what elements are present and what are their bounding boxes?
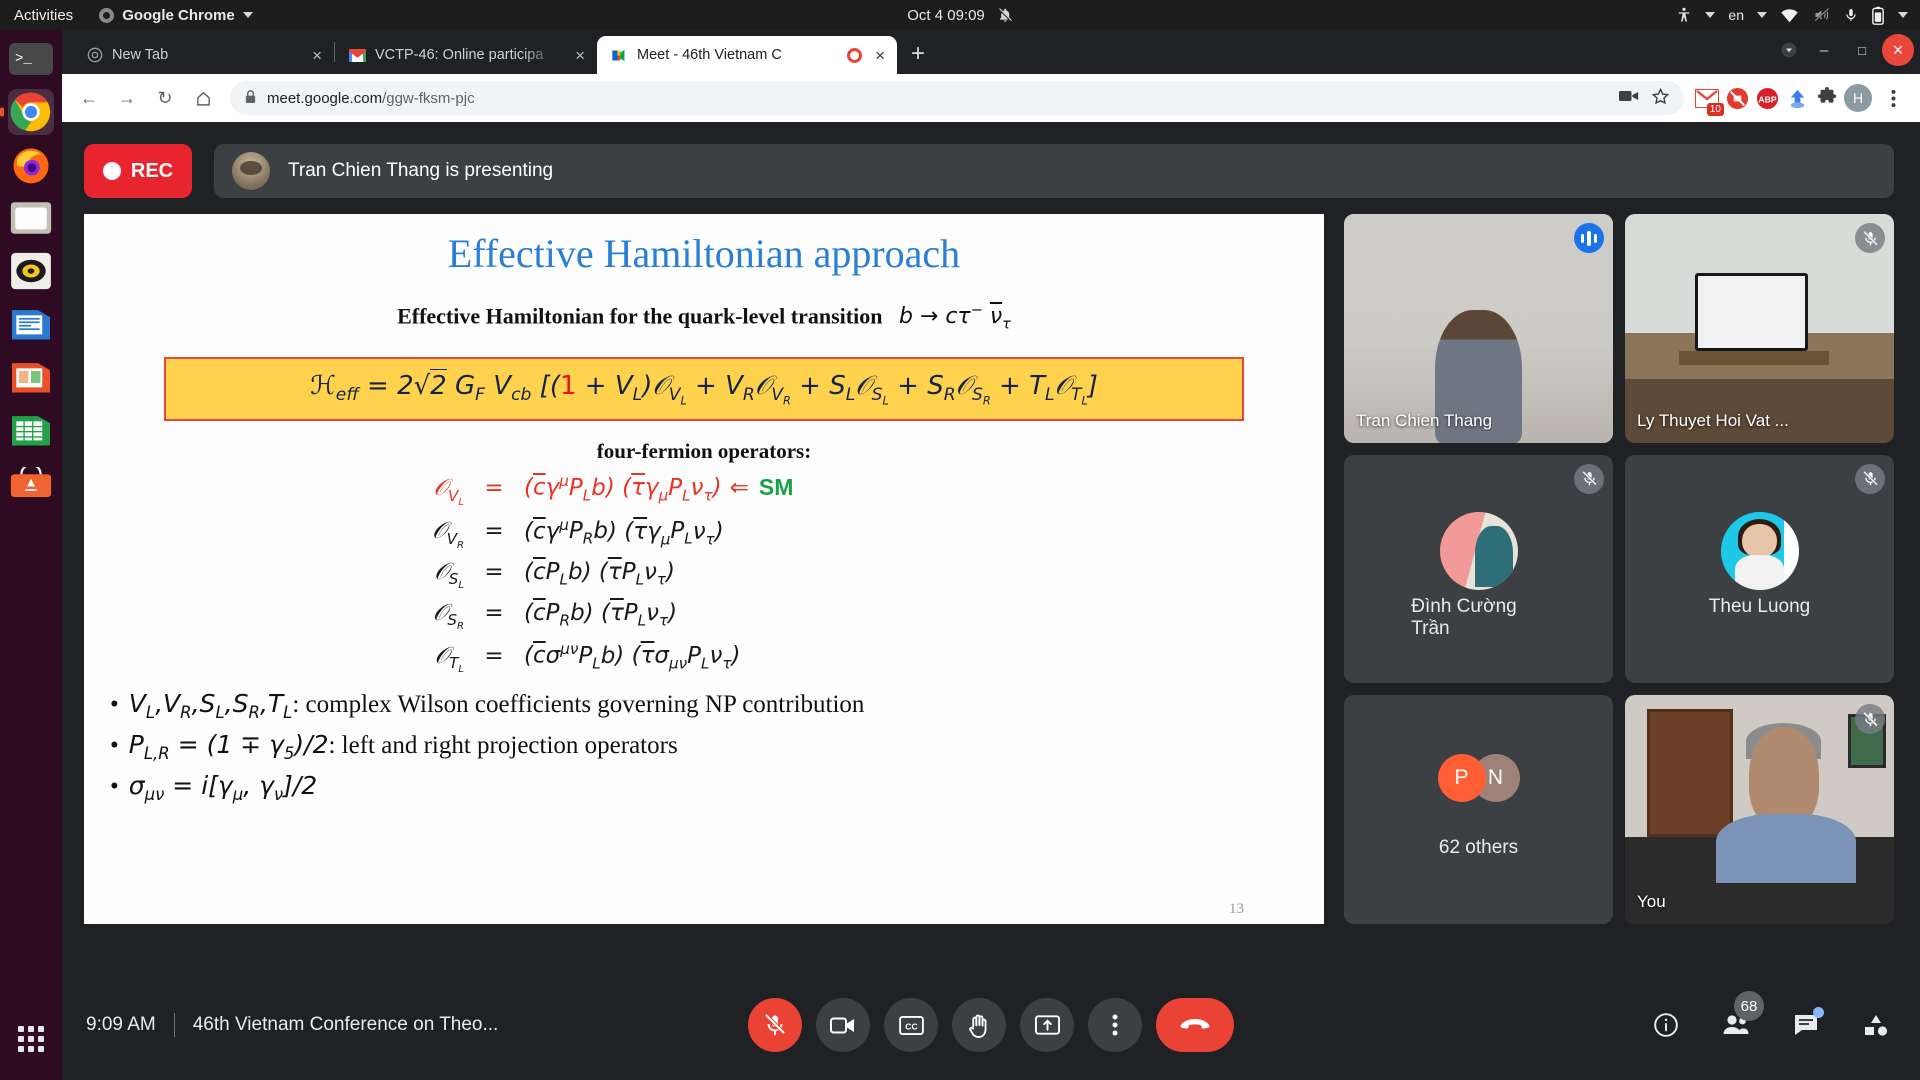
operator-lhs: 𝒪TL: [344, 643, 464, 676]
presenting-text: Tran Chien Thang is presenting: [288, 160, 553, 182]
window-minimize-button[interactable]: –: [1806, 36, 1842, 64]
participants-count-badge: 68: [1734, 991, 1764, 1021]
operator-lhs: 𝒪SL: [344, 559, 464, 592]
tab-close-icon[interactable]: ×: [871, 45, 889, 66]
hamiltonian-equation-box: ℋeff = 2√2 GF Vcb [(1 + VL)𝒪VL + VR𝒪VR +…: [164, 357, 1244, 422]
slide-page-number: 13: [1229, 901, 1244, 918]
recording-badge: REC: [84, 144, 192, 198]
calc-icon: [10, 411, 52, 449]
puzzle-extensions-icon[interactable]: [1814, 85, 1840, 111]
url-host: meet.google.com: [267, 90, 382, 107]
tab-vctp46[interactable]: VCTP-46: Online participa ×: [335, 36, 597, 74]
bullet-marker: •: [110, 768, 119, 807]
leave-call-button[interactable]: [1156, 998, 1234, 1052]
chevron-down-icon[interactable]: [1898, 12, 1908, 18]
camera-button[interactable]: [816, 998, 870, 1052]
gmail-icon: [349, 47, 366, 64]
app-menu-label: Google Chrome: [122, 7, 235, 24]
writer-icon: [10, 305, 52, 343]
operator-rhs: (cPRb) (τPLντ): [524, 600, 1064, 630]
activities-button[interactable]: Activities: [14, 7, 73, 24]
presenting-banner[interactable]: Tran Chien Thang is presenting: [214, 144, 1894, 198]
operator-rhs: (cγμPLb) (τγμPLντ)⇐SM: [524, 472, 1064, 504]
adblock-red-icon[interactable]: [1724, 85, 1750, 111]
more-options-button[interactable]: [1088, 998, 1142, 1052]
others-count-label: 62 others: [1439, 837, 1518, 859]
meeting-info-left: 9:09 AM 46th Vietnam Conference on Theo.…: [86, 1013, 498, 1037]
bullet-item: • PL,R = (1 ∓ γ5)/2: left and right proj…: [110, 726, 1324, 767]
captions-button[interactable]: CC: [884, 998, 938, 1052]
language-indicator[interactable]: en: [1728, 7, 1744, 23]
address-bar[interactable]: meet.google.com/ggw-fksm-pjc: [230, 81, 1684, 115]
wifi-icon[interactable]: [1780, 8, 1799, 23]
reload-button[interactable]: ↻: [148, 81, 182, 115]
show-applications-button[interactable]: [8, 1016, 54, 1062]
accessibility-icon[interactable]: [1676, 6, 1692, 24]
participant-tile-ly-thuyet-hoi-vat[interactable]: Ly Thuyet Hoi Vat ...: [1625, 214, 1894, 443]
browser-toolbar: ← → ↻ meet.google.com/ggw-fksm-pjc: [62, 74, 1920, 122]
mic-muted-icon: [1574, 464, 1604, 494]
operators-heading: four-fermion operators:: [84, 439, 1324, 464]
svg-text:ABP: ABP: [1758, 94, 1776, 104]
operator-equals: =: [464, 600, 524, 626]
mic-muted-icon: [1855, 464, 1885, 494]
participant-name: Tran Chien Thang: [1356, 411, 1492, 431]
bookmark-star-icon[interactable]: [1651, 87, 1670, 110]
tab-title: New Tab: [112, 47, 299, 63]
bullet-math: PL,R = (1 ∓ γ5)/2: [129, 730, 329, 759]
svg-text:CC: CC: [905, 1021, 917, 1031]
app-menu-chrome[interactable]: Google Chrome: [99, 7, 253, 24]
participant-name: Ly Thuyet Hoi Vat ...: [1637, 411, 1789, 431]
gnome-top-bar: Activities Google Chrome Oct 4 09:09 en: [0, 0, 1920, 30]
record-dot-icon: [103, 162, 121, 180]
chrome-window: New Tab × VCTP-46: Online participa ×: [62, 30, 1920, 1080]
dock-item-terminal[interactable]: >_: [8, 36, 54, 82]
mic-muted-icon: [1855, 223, 1885, 253]
participant-tiles: Tran Chien Thang Ly Thuyet Hoi Vat ...: [1344, 214, 1894, 924]
gmail-unread-badge: 10: [1707, 103, 1724, 116]
activities-button[interactable]: [1856, 1005, 1896, 1045]
sm-tag: SM: [759, 474, 794, 500]
participant-name: Đình Cường Trần: [1411, 596, 1546, 640]
participant-tile-others[interactable]: P N 62 others: [1344, 695, 1613, 924]
camera-permission-icon[interactable]: [1619, 89, 1639, 107]
back-button[interactable]: ←: [72, 81, 106, 115]
chrome-menu-button[interactable]: [1876, 81, 1910, 115]
home-button[interactable]: [186, 81, 220, 115]
files-icon: [10, 201, 52, 235]
dock-item-rhythmbox[interactable]: [8, 248, 54, 294]
microphone-off-button[interactable]: [748, 998, 802, 1052]
bullet-math: σμν = i[γμ, γν]/2: [129, 771, 317, 800]
participant-name: Theu Luong: [1709, 596, 1810, 618]
battery-icon[interactable]: [1871, 6, 1885, 25]
dock-item-libreoffice-calc[interactable]: [8, 407, 54, 453]
participant-tile-you[interactable]: You: [1625, 695, 1894, 924]
meet-top-bar: REC Tran Chien Thang is presenting: [84, 144, 1894, 198]
tab-recording-icon: [847, 48, 862, 63]
recording-label: REC: [131, 160, 173, 183]
tab-title: Meet - 46th Vietnam C: [637, 47, 838, 63]
operator-rhs: (cPLb) (τPLντ): [524, 559, 1064, 589]
forward-button[interactable]: →: [110, 81, 144, 115]
chat-unread-dot: [1813, 1007, 1824, 1018]
new-tab-button[interactable]: +: [897, 40, 939, 74]
operator-equals: =: [464, 643, 524, 669]
operator-rhs: (cσμνPLb) (τσμνPLντ): [524, 640, 1064, 672]
notifications-muted-icon: [997, 7, 1013, 23]
slide-subtitle-text: Effective Hamiltonian for the quark-leve…: [397, 303, 882, 328]
slide-subtitle: Effective Hamiltonian for the quark-leve…: [84, 303, 1324, 333]
url-path: /ggw-fksm-pjc: [382, 90, 475, 107]
operator-row: 𝒪VR = (cγμPRb) (τγμPLντ): [344, 516, 1064, 551]
volume-muted-icon[interactable]: [1812, 7, 1831, 23]
window-maximize-button[interactable]: □: [1844, 36, 1880, 64]
meet-control-bar: 9:09 AM 46th Vietnam Conference on Theo.…: [62, 970, 1920, 1080]
chrome-icon: [10, 91, 52, 133]
operator-rhs: (cγμPRb) (τγμPLντ): [524, 516, 1064, 548]
participant-video: [1625, 214, 1894, 443]
url-text: meet.google.com/ggw-fksm-pjc: [267, 90, 475, 107]
ubuntu-dock: >_: [0, 30, 62, 1080]
clock-label: Oct 4 09:09: [907, 7, 985, 24]
chevron-down-icon[interactable]: [1757, 12, 1767, 18]
tab-new-tab[interactable]: New Tab ×: [72, 36, 334, 74]
tab-close-icon[interactable]: ×: [308, 45, 326, 66]
bullet-item: • σμν = i[γμ, γν]/2: [110, 767, 1324, 808]
divider: [174, 1013, 175, 1037]
dock-item-firefox[interactable]: [8, 142, 54, 188]
bullet-marker: •: [110, 727, 119, 766]
firefox-icon: [10, 144, 52, 186]
participant-video: [1625, 695, 1894, 924]
rhythmbox-icon: [10, 252, 52, 290]
slide-bullets: • VL,VR,SL,SR,TL: complex Wilson coeffic…: [110, 685, 1324, 807]
tab-meet[interactable]: Meet - 46th Vietnam C ×: [597, 36, 897, 74]
dock-item-files[interactable]: [8, 195, 54, 241]
lock-icon: [244, 89, 257, 108]
terminal-icon: >_: [9, 43, 53, 75]
participant-avatar: [1721, 512, 1799, 590]
dock-item-ubuntu-software[interactable]: [8, 460, 54, 506]
bullet-item: • VL,VR,SL,SR,TL: complex Wilson coeffic…: [110, 685, 1324, 726]
participant-tile-dinh-cuong-tran[interactable]: Đình Cường Trần: [1344, 455, 1613, 684]
raise-hand-button[interactable]: [952, 998, 1006, 1052]
microphone-icon[interactable]: [1844, 6, 1858, 24]
bullet-marker: •: [110, 686, 119, 725]
meet-icon: [611, 47, 628, 64]
window-close-button[interactable]: ×: [1882, 34, 1914, 66]
slide-subtitle-math: b → cτ− ντ: [899, 304, 1011, 329]
chrome-icon: [86, 47, 103, 64]
bullet-math: VL,VR,SL,SR,TL: [129, 689, 293, 718]
speaking-indicator-icon: [1574, 223, 1604, 253]
tab-search-icon[interactable]: [1774, 35, 1804, 65]
dock-item-google-chrome[interactable]: [8, 89, 54, 135]
meeting-title: 46th Vietnam Conference on Theo...: [193, 1014, 499, 1036]
avatar-initial: P: [1438, 754, 1486, 802]
tab-title: VCTP-46: Online participa: [375, 47, 562, 63]
dock-item-libreoffice-writer[interactable]: [8, 301, 54, 347]
operator-equals: =: [464, 475, 524, 501]
abp-icon[interactable]: ABP: [1754, 85, 1780, 111]
profile-avatar[interactable]: H: [1844, 84, 1872, 112]
participant-tile-tran-chien-thang[interactable]: Tran Chien Thang: [1344, 214, 1613, 443]
operator-lhs: 𝒪SR: [344, 600, 464, 633]
meet-right-controls: 68: [1646, 1005, 1896, 1045]
participant-tile-theu-luong[interactable]: Theu Luong: [1625, 455, 1894, 684]
participant-video: [1344, 214, 1613, 443]
google-meet-page: REC Tran Chien Thang is presenting Effec…: [62, 122, 1920, 1080]
chevron-down-icon[interactable]: [1705, 12, 1715, 18]
chevron-down-icon: [243, 12, 253, 18]
meeting-details-button[interactable]: [1646, 1005, 1686, 1045]
impress-icon: [10, 358, 52, 396]
operator-lhs: 𝒪VR: [344, 518, 464, 551]
grid-apps-icon: [18, 1026, 44, 1052]
present-screen-button[interactable]: [1020, 998, 1074, 1052]
participant-name: You: [1637, 892, 1666, 912]
operator-row: 𝒪SR = (cPRb) (τPLντ): [344, 600, 1064, 633]
chrome-icon: [99, 8, 114, 23]
bullet-text: : complex Wilson coefficients governing …: [292, 691, 864, 718]
operator-row: 𝒪VL = (cγμPLb) (τγμPLντ)⇐SM: [344, 472, 1064, 507]
operator-lhs: 𝒪VL: [344, 475, 464, 508]
gmail-extension-icon[interactable]: 10: [1694, 85, 1720, 111]
operator-equals: =: [464, 518, 524, 544]
participant-avatar: [1440, 512, 1518, 590]
operators-list: 𝒪VL = (cγμPLb) (τγμPLντ)⇐SM 𝒪VR = (cγμPR…: [344, 472, 1064, 675]
operator-row: 𝒪TL = (cσμνPLb) (τσμνPLντ): [344, 640, 1064, 675]
clock-area[interactable]: Oct 4 09:09: [907, 7, 1013, 24]
downloader-icon[interactable]: [1784, 85, 1810, 111]
meeting-time: 9:09 AM: [86, 1014, 156, 1036]
participants-button[interactable]: 68: [1716, 1005, 1756, 1045]
audio-level-icon: [1581, 231, 1598, 246]
tab-close-icon[interactable]: ×: [571, 45, 589, 66]
ubuntu-software-icon: [10, 467, 52, 499]
tab-strip: New Tab × VCTP-46: Online participa ×: [62, 30, 1920, 74]
dock-item-libreoffice-impress[interactable]: [8, 354, 54, 400]
operator-row: 𝒪SL = (cPLb) (τPLντ): [344, 559, 1064, 592]
chat-button[interactable]: [1786, 1005, 1826, 1045]
presentation-slide[interactable]: Effective Hamiltonian approach Effective…: [84, 214, 1324, 924]
slide-title: Effective Hamiltonian approach: [84, 230, 1324, 277]
bullet-text: : left and right projection operators: [328, 732, 677, 759]
operator-equals: =: [464, 559, 524, 585]
presenter-avatar: [232, 152, 270, 190]
others-avatar-stack: P N: [1438, 754, 1520, 802]
meet-main-controls: CC: [748, 998, 1234, 1052]
